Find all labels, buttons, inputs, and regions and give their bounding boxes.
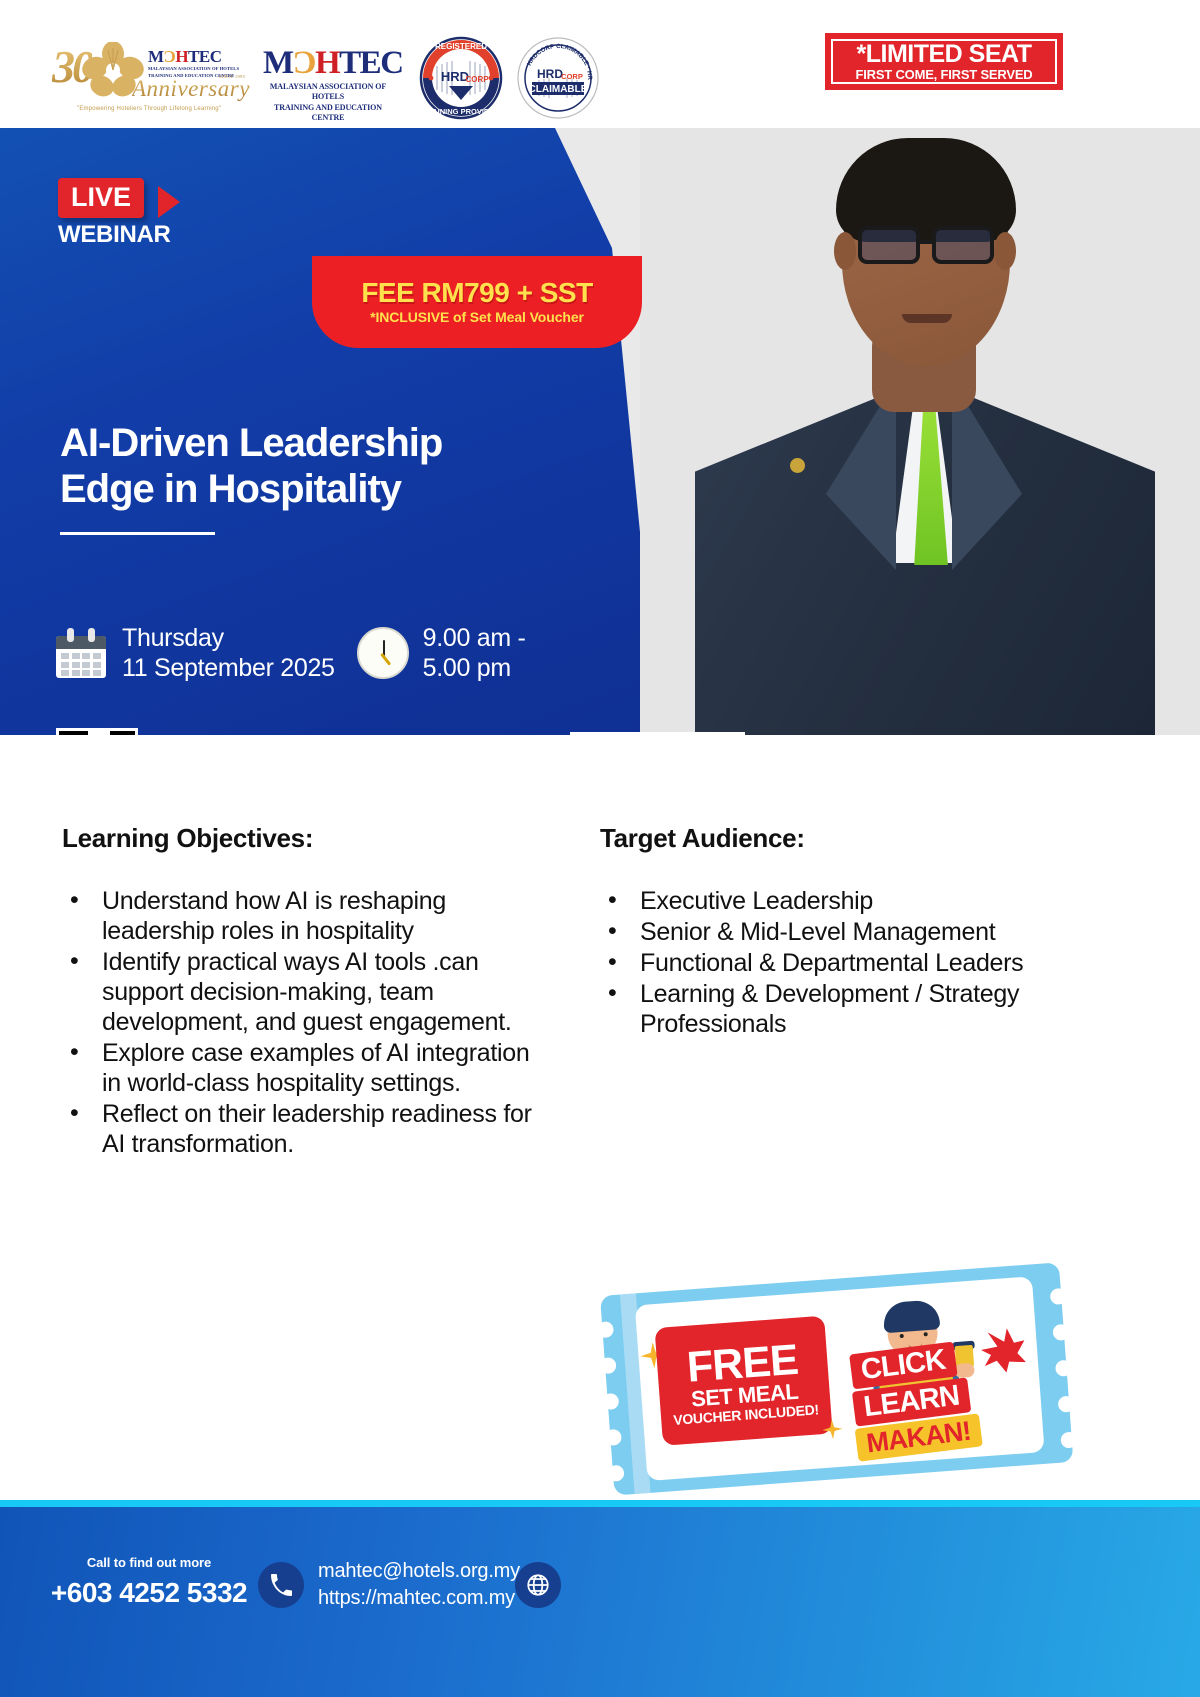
- footer-email[interactable]: mahtec@hotels.org.my: [318, 1558, 520, 1585]
- date-time-row: Thursday 11 September 2025 9.00 am - 5.0…: [56, 623, 526, 683]
- mahtec-sub1: MALAYSIAN ASSOCIATION OF HOTELS: [263, 82, 393, 101]
- header-logo-bar: 30 MƆHTEC MALAYSIAN ASSOCIATION OF HOTEL…: [0, 0, 1200, 128]
- list-item: Explore case examples of AI integration …: [62, 1038, 532, 1098]
- event-time-end: 5.00 pm: [423, 653, 526, 683]
- learning-objectives-column: Learning Objectives: Understand how AI i…: [62, 823, 532, 1160]
- footer-contact-text: mahtec@hotels.org.my https://mahtec.com.…: [318, 1558, 520, 1612]
- list-item: Senior & Mid-Level Management: [600, 917, 1120, 947]
- live-webinar-badge: LIVE WEBINAR: [58, 178, 173, 248]
- footer-website[interactable]: https://mahtec.com.my: [318, 1585, 520, 1612]
- webinar-label: WEBINAR: [58, 222, 173, 248]
- list-item: Executive Leadership: [600, 886, 1120, 916]
- mahtec-logo: MƆHTEC MALAYSIAN ASSOCIATION OF HOTELS T…: [263, 46, 393, 108]
- meal-voucher-graphic: FREE SET MEAL VOUCHER INCLUDED! CLICK LE…: [600, 1288, 1070, 1504]
- svg-text:CLAIMABLE: CLAIMABLE: [529, 84, 588, 95]
- clock-icon: [357, 627, 409, 679]
- speaker-ear-right: [994, 232, 1016, 270]
- click-learn-makan-stack: CLICK LEARN MAKAN!: [850, 1342, 997, 1459]
- free-set-meal-block: FREE SET MEAL VOUCHER INCLUDED!: [654, 1316, 832, 1446]
- globe-icon: [515, 1562, 561, 1608]
- title-line-2: Edge in Hospitality: [60, 466, 442, 512]
- footer-phone-block: Call to find out more +603 4252 5332: [44, 1555, 254, 1609]
- target-audience-heading: Target Audience:: [600, 823, 1120, 854]
- list-item: Understand how AI is reshaping leadershi…: [62, 886, 532, 946]
- limited-seat-main: *LIMITED SEAT: [857, 41, 1032, 67]
- page-title: AI-Driven Leadership Edge in Hospitality: [60, 420, 442, 512]
- hrd-corp-claimable-badge: HRDCORP CLAIMABLE · HRDCORP HRD CORP CLA…: [516, 36, 600, 120]
- limited-seat-sub: FIRST COME, FIRST SERVED: [856, 67, 1033, 82]
- footer-call-label: Call to find out more: [44, 1555, 254, 1571]
- fee-note: *INCLUSIVE of Set Meal Voucher: [370, 308, 584, 326]
- list-item: Reflect on their leadership readiness fo…: [62, 1099, 532, 1159]
- speaker-mouth: [902, 314, 952, 323]
- video-camera-icon: [158, 186, 180, 218]
- event-day: Thursday: [122, 623, 335, 653]
- list-item: Identify practical ways AI tools .can su…: [62, 947, 532, 1037]
- event-date-full: 11 September 2025: [122, 653, 335, 683]
- event-date: Thursday 11 September 2025: [122, 623, 335, 683]
- speaker-label: Speaker: [570, 732, 745, 735]
- calendar-icon: [56, 628, 106, 678]
- list-item: Learning & Development / Strategy Profes…: [600, 979, 1120, 1039]
- speaker-lapel-pin: [790, 458, 805, 473]
- mahtec-wordmark: MƆHTEC: [263, 46, 393, 80]
- mahtec-sub2: TRAINING AND EDUCATION CENTRE: [263, 103, 393, 122]
- hero-section: LIVE WEBINAR FEE RM799 + SST *INCLUSIVE …: [0, 128, 1200, 735]
- hrd-corp-registered-training-provider-badge: REGISTERED TRAINING PROVIDER HRD CORP: [419, 36, 503, 120]
- speaker-glasses-bridge: [920, 240, 934, 244]
- svg-text:CORP: CORP: [465, 75, 489, 84]
- svg-text:CORP: CORP: [561, 72, 583, 81]
- event-time-start: 9.00 am -: [423, 623, 526, 653]
- list-item: Functional & Departmental Leaders: [600, 948, 1120, 978]
- qr-code[interactable]: [56, 728, 138, 735]
- svg-text:REGISTERED: REGISTERED: [435, 42, 487, 51]
- phone-icon: [258, 1562, 304, 1608]
- speaker-glasses-left: [858, 226, 920, 264]
- svg-text:TRAINING PROVIDER: TRAINING PROVIDER: [422, 107, 500, 116]
- svg-text:HRD: HRD: [537, 67, 563, 81]
- footer-contact-bar: Call to find out more +603 4252 5332 mah…: [0, 1500, 1200, 1697]
- anniversary-tagline: "Empowering Hoteliers Through Lifelong L…: [77, 106, 221, 112]
- fee-banner: FEE RM799 + SST *INCLUSIVE of Set Meal V…: [312, 256, 642, 348]
- learning-objectives-list: Understand how AI is reshaping leadershi…: [62, 886, 532, 1159]
- learning-objectives-heading: Learning Objectives:: [62, 823, 532, 854]
- title-divider: [60, 532, 215, 535]
- anniversary-since: SINCE 1995: [219, 74, 245, 79]
- limited-seat-badge: *LIMITED SEAT FIRST COME, FIRST SERVED: [825, 33, 1063, 90]
- speaker-photo: [640, 128, 1200, 735]
- event-time: 9.00 am - 5.00 pm: [423, 623, 526, 683]
- anniversary-brand-sub1: MALAYSIAN ASSOCIATION OF HOTELS: [148, 66, 239, 72]
- footer-accent-line: [0, 1500, 1200, 1507]
- qr-register-row[interactable]: Scan here to register: [56, 728, 262, 735]
- target-audience-column: Target Audience: Executive LeadershipSen…: [600, 823, 1120, 1040]
- speaker-ear-left: [834, 232, 856, 270]
- anniversary-word: Anniversary: [132, 76, 250, 102]
- live-label: LIVE: [58, 178, 144, 218]
- anniversary-logo: 30 MƆHTEC MALAYSIAN ASSOCIATION OF HOTEL…: [52, 38, 247, 116]
- fee-amount: FEE RM799 + SST: [361, 278, 592, 308]
- title-line-1: AI-Driven Leadership: [60, 420, 442, 466]
- speaker-glasses-right: [932, 226, 994, 264]
- target-audience-list: Executive LeadershipSenior & Mid-Level M…: [600, 886, 1120, 1039]
- footer-phone-number[interactable]: +603 4252 5332: [44, 1577, 254, 1609]
